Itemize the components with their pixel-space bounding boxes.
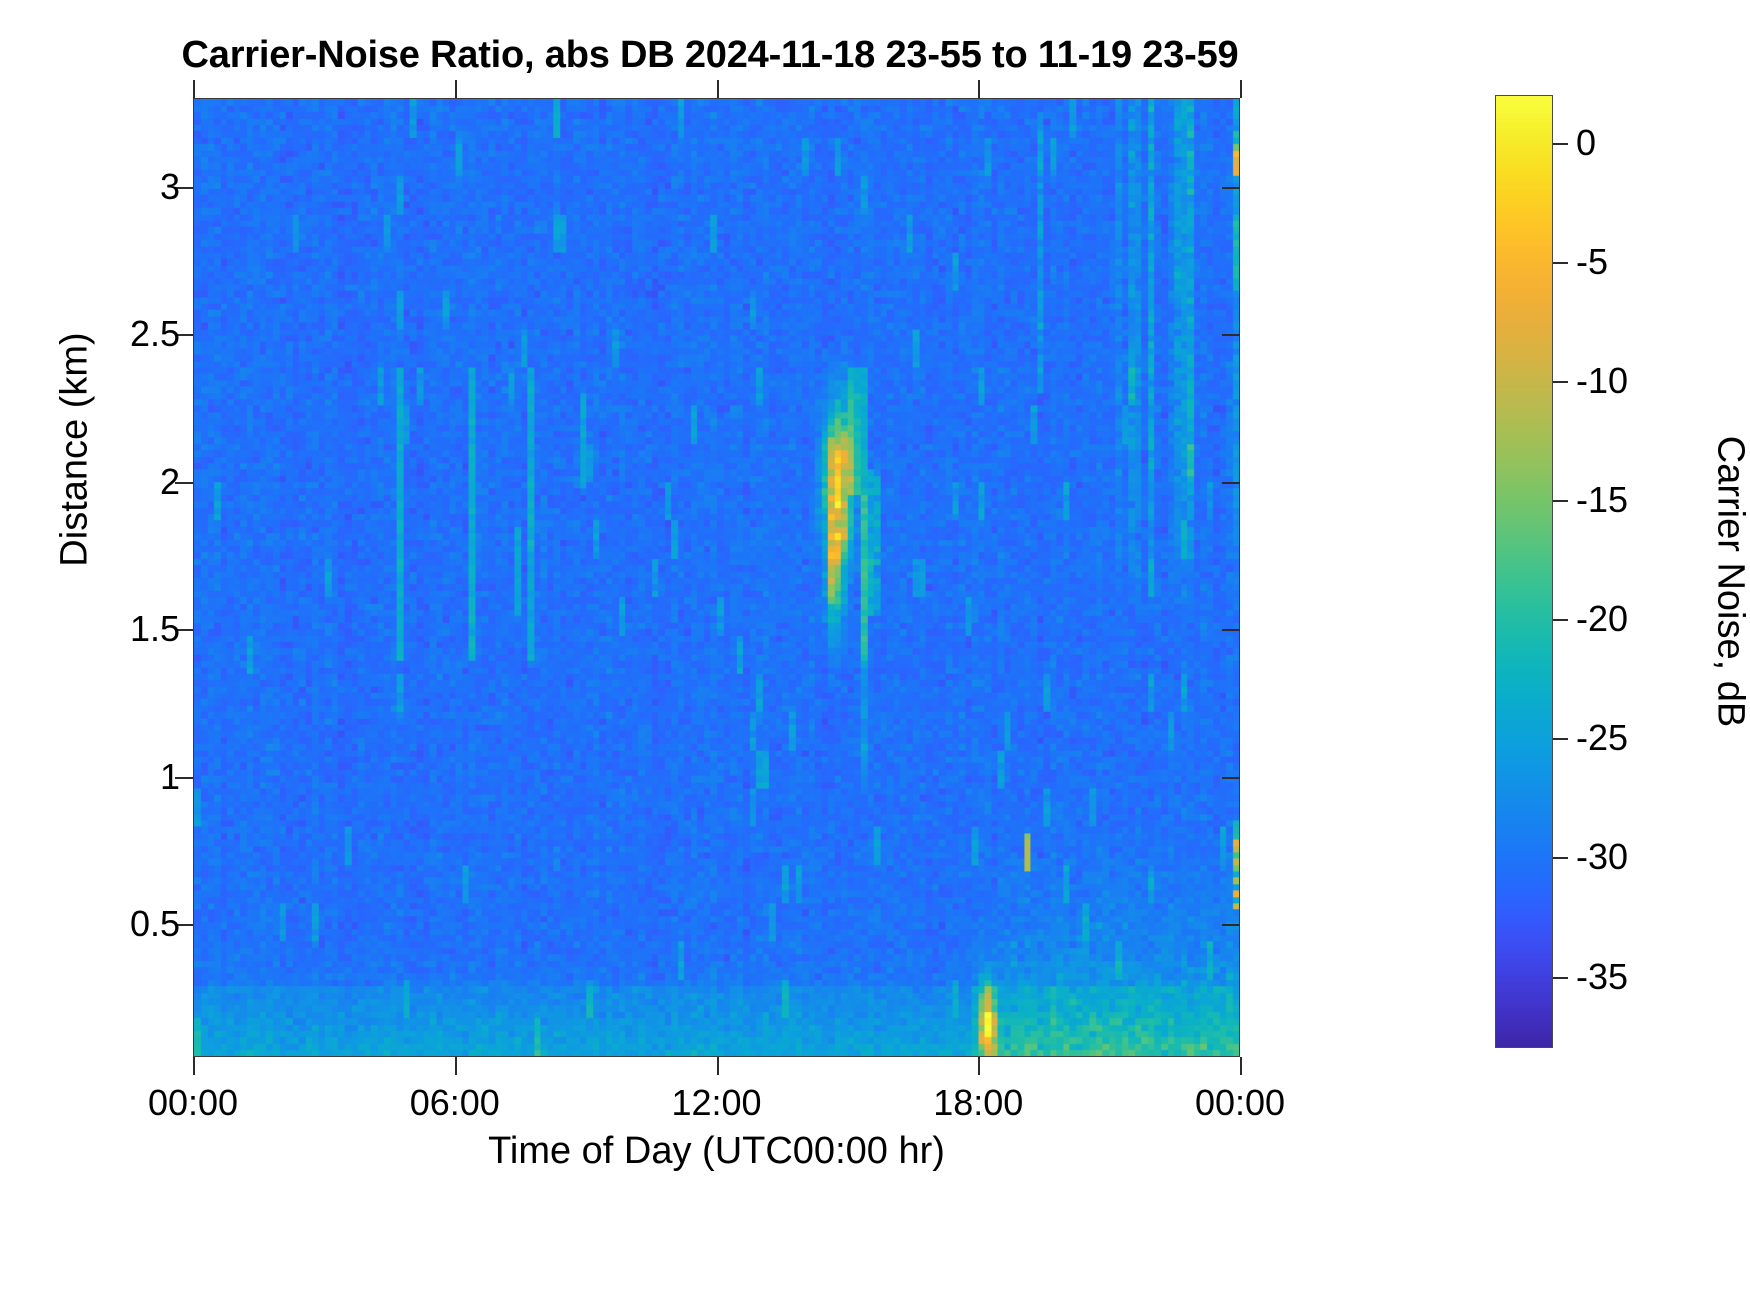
colorbar-tick-label: 0 xyxy=(1576,122,1596,164)
x-axis-tick-label: 12:00 xyxy=(671,1082,761,1124)
x-axis-tick xyxy=(717,1057,719,1075)
x-axis-tick xyxy=(1240,1057,1242,1075)
y-axis-tick-inner xyxy=(1222,777,1240,779)
x-axis-tick xyxy=(455,1057,457,1075)
colorbar-tick-label: -10 xyxy=(1576,360,1628,402)
x-axis-tick-inner xyxy=(455,80,457,98)
y-axis-tick-inner xyxy=(1222,334,1240,336)
colorbar-tick xyxy=(1553,738,1568,740)
colorbar-tick-label: -5 xyxy=(1576,241,1608,283)
colorbar-tick-label: -35 xyxy=(1576,956,1628,998)
y-axis-tick-label: 2.5 xyxy=(130,313,180,355)
y-axis-tick-label: 3 xyxy=(160,166,180,208)
x-axis-tick-inner xyxy=(193,80,195,98)
x-axis-tick-inner xyxy=(978,80,980,98)
x-axis-tick-inner xyxy=(717,80,719,98)
colorbar-tick xyxy=(1553,381,1568,383)
colorbar-tick-label: -30 xyxy=(1576,836,1628,878)
x-axis-tick-label: 00:00 xyxy=(1195,1082,1285,1124)
colorbar-tick xyxy=(1553,500,1568,502)
y-axis-tick-label: 1.5 xyxy=(130,608,180,650)
x-axis-tick-label: 18:00 xyxy=(933,1082,1023,1124)
y-axis-tick-label: 1 xyxy=(160,756,180,798)
y-axis-tick-inner xyxy=(1222,924,1240,926)
chart-title: Carrier-Noise Ratio, abs DB 2024-11-18 2… xyxy=(0,34,1420,77)
colorbar[interactable] xyxy=(1495,95,1553,1048)
heatmap-axes[interactable] xyxy=(193,98,1240,1057)
x-axis-label: Time of Day (UTC00:00 hr) xyxy=(193,1130,1240,1173)
colorbar-tick xyxy=(1553,619,1568,621)
figure-canvas: Carrier-Noise Ratio, abs DB 2024-11-18 2… xyxy=(0,0,1750,1313)
heatmap-image xyxy=(194,99,1239,1056)
x-axis-tick-label: 06:00 xyxy=(410,1082,500,1124)
colorbar-tick-label: -15 xyxy=(1576,479,1628,521)
x-axis-tick-inner xyxy=(1240,80,1242,98)
y-axis-label: Distance (km) xyxy=(54,150,97,750)
y-axis-tick-inner xyxy=(1222,629,1240,631)
colorbar-tick xyxy=(1553,262,1568,264)
colorbar-tick-label: -20 xyxy=(1576,598,1628,640)
y-axis-tick-label: 0.5 xyxy=(130,903,180,945)
y-axis-tick-inner xyxy=(1222,187,1240,189)
y-axis-tick-inner xyxy=(1222,482,1240,484)
x-axis-tick-label: 00:00 xyxy=(148,1082,238,1124)
colorbar-tick xyxy=(1553,143,1568,145)
colorbar-tick xyxy=(1553,857,1568,859)
colorbar-gradient xyxy=(1496,96,1552,1047)
y-axis-tick-label: 2 xyxy=(160,461,180,503)
x-axis-tick xyxy=(978,1057,980,1075)
x-axis-tick xyxy=(193,1057,195,1075)
colorbar-tick xyxy=(1553,977,1568,979)
colorbar-label: Carrier Noise, dB xyxy=(1709,322,1750,842)
colorbar-tick-label: -25 xyxy=(1576,717,1628,759)
